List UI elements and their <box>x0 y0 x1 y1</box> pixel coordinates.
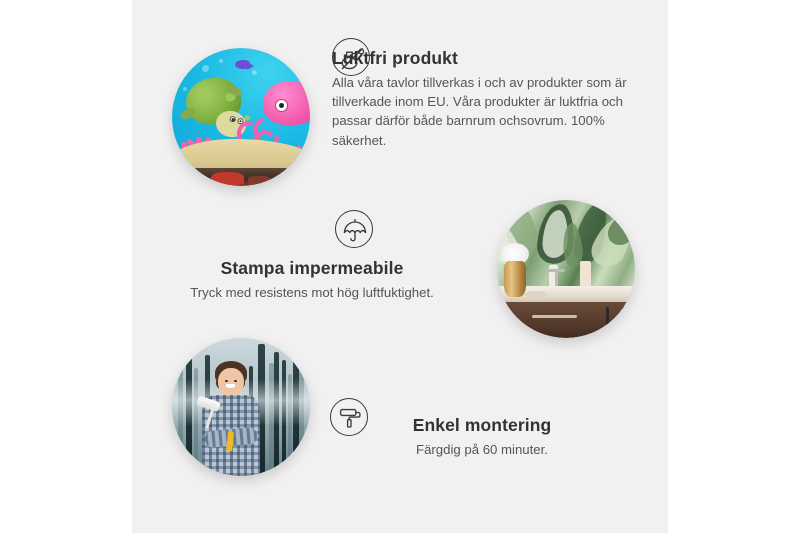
feature-title: Luktfri produkt <box>332 48 632 70</box>
promo-graphic: Luktfri produkt Alla våra tavlor tillver… <box>0 0 800 533</box>
umbrella-icon <box>335 210 373 248</box>
content-panel: Luktfri produkt Alla våra tavlor tillver… <box>132 0 668 533</box>
feature-body: Tryck med resistens mot hög luftfuktighe… <box>167 283 457 302</box>
feature-body: Alla våra tavlor tillverkas i och av pro… <box>332 73 632 150</box>
feature-text-easy-install: Enkel montering Färgdig på 60 minuter. <box>332 415 632 459</box>
feature-title: Stampa impermeabile <box>167 258 457 280</box>
feature-block-odourless: Luktfri produkt Alla våra tavlor tillver… <box>132 0 668 200</box>
feature-text-waterproof: Stampa impermeabile Tryck med resistens … <box>167 258 457 302</box>
feature-title: Enkel montering <box>332 415 632 437</box>
feature-body: Färgdig på 60 minuter. <box>332 440 632 459</box>
underwater-scene-photo <box>172 48 310 186</box>
feature-block-easy-install: Enkel montering Färgdig på 60 minuter. <box>132 320 668 520</box>
installer-photo <box>172 338 310 476</box>
feature-text-odourless: Luktfri produkt Alla våra tavlor tillver… <box>332 48 632 150</box>
bathroom-photo <box>497 200 635 338</box>
